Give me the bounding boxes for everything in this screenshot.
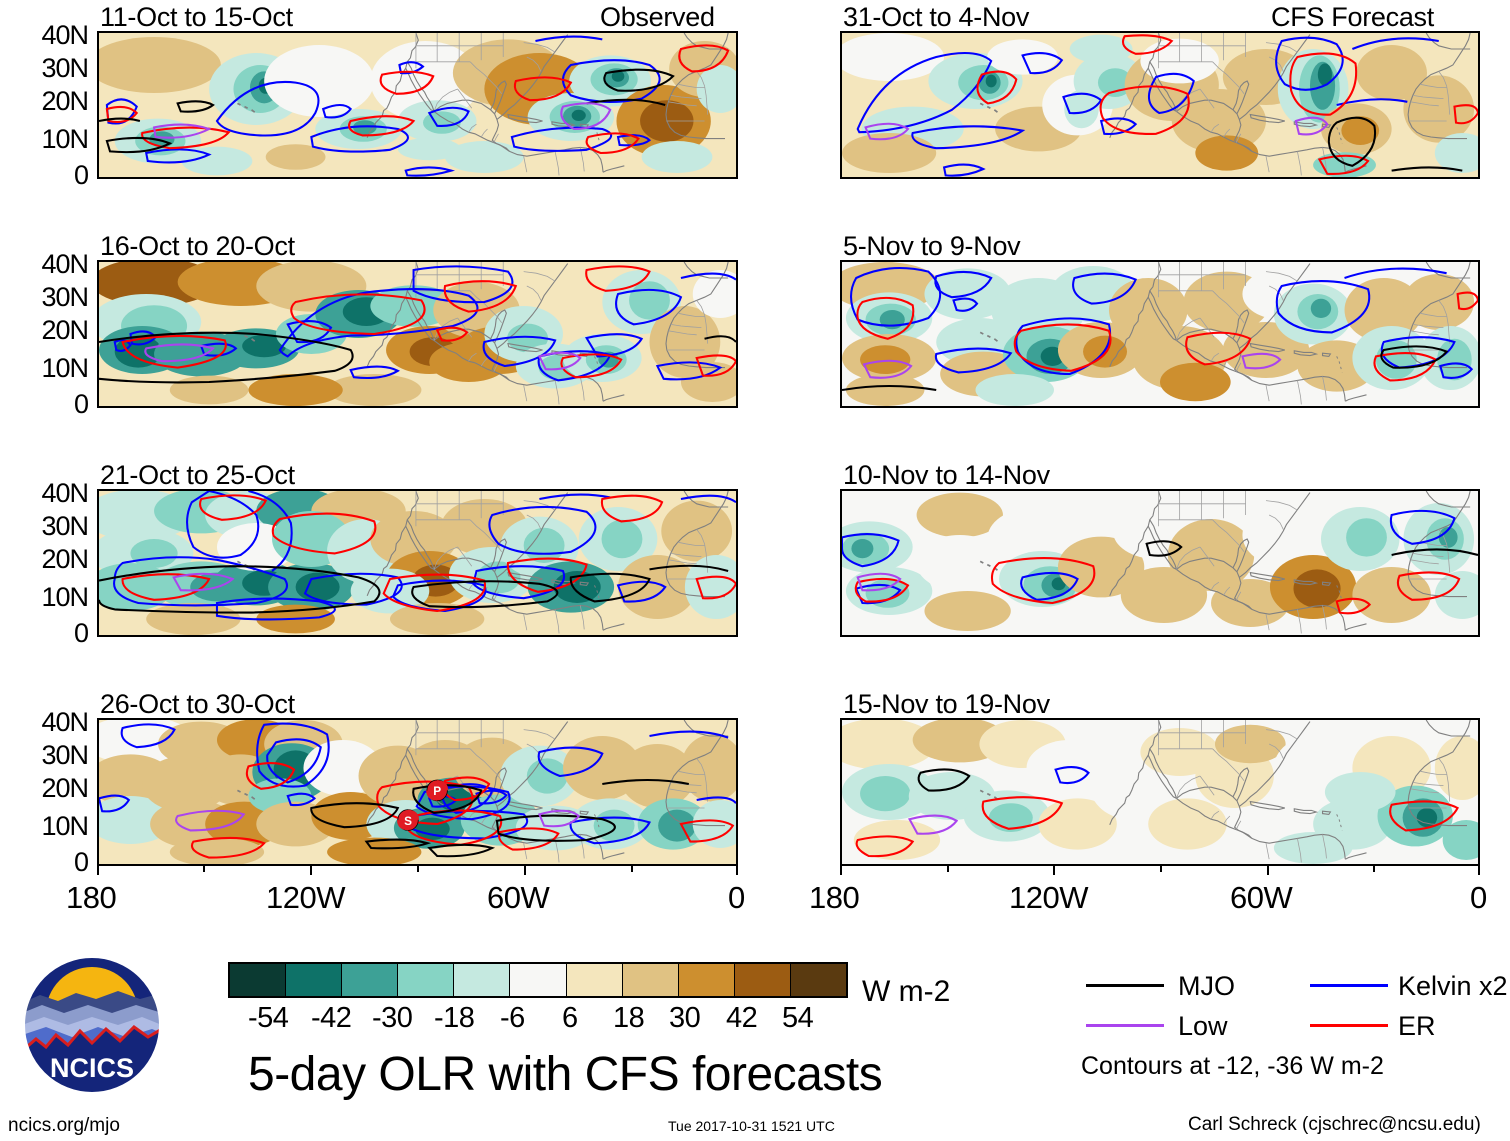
yaxis-label-20N-row4: 20N bbox=[0, 775, 88, 802]
xtick bbox=[1478, 866, 1480, 875]
colorbar-swatch-10 bbox=[791, 964, 846, 996]
xtick bbox=[1053, 866, 1055, 875]
colorbar-tick--18: -18 bbox=[434, 1002, 474, 1035]
xtick bbox=[417, 866, 419, 872]
panel-title-observed-1: 11-Oct to 15-Oct bbox=[100, 4, 293, 31]
yaxis-label-10N-row3: 10N bbox=[0, 584, 88, 611]
xtick bbox=[97, 866, 99, 875]
xaxis-label-60W-right: 60W bbox=[1230, 882, 1292, 913]
legend-label-er: ER bbox=[1398, 1011, 1436, 1042]
figure-main-title: 5-day OLR with CFS forecasts bbox=[248, 1047, 882, 1102]
xaxis-label-0-right: 0 bbox=[1470, 882, 1487, 913]
column-header-observed: Observed bbox=[600, 4, 715, 31]
map-panel-forecast-2 bbox=[840, 260, 1480, 408]
yaxis-label-30N-row4: 30N bbox=[0, 742, 88, 769]
colorbar-swatch-5 bbox=[510, 964, 566, 996]
xaxis-label-120W-left: 120W bbox=[266, 882, 345, 913]
yaxis-label-0-row4: 0 bbox=[0, 849, 88, 876]
yaxis-label-20N-row2: 20N bbox=[0, 317, 88, 344]
panel-title-observed-2: 16-Oct to 20-Oct bbox=[100, 233, 295, 260]
yaxis-label-30N-row2: 30N bbox=[0, 284, 88, 311]
footer-author-contact: Carl Schreck (cjschrec@ncsu.edu) bbox=[1188, 1114, 1481, 1136]
yaxis-label-40N-row1: 40N bbox=[0, 22, 88, 49]
xtick bbox=[1373, 866, 1375, 872]
yaxis-label-0-row3: 0 bbox=[0, 620, 88, 647]
logo-text: NCICS bbox=[50, 1053, 134, 1083]
yaxis-label-10N-row2: 10N bbox=[0, 355, 88, 382]
xaxis-label-120W-right: 120W bbox=[1009, 882, 1088, 913]
panel-title-forecast-1: 31-Oct to 4-Nov bbox=[843, 4, 1029, 31]
xtick bbox=[524, 866, 526, 875]
colorbar-tick-6: 6 bbox=[562, 1002, 578, 1035]
colorbar-swatch-9 bbox=[735, 964, 791, 996]
ncics-logo: NCICS bbox=[22, 955, 162, 1095]
colorbar-tick--30: -30 bbox=[372, 1002, 412, 1035]
footer-site-url[interactable]: ncics.org/mjo bbox=[8, 1115, 120, 1137]
yaxis-label-30N-row3: 30N bbox=[0, 513, 88, 540]
colorbar bbox=[228, 962, 848, 998]
colorbar-swatch-8 bbox=[679, 964, 735, 996]
yaxis-label-0-row1: 0 bbox=[0, 162, 88, 189]
panel-title-observed-4: 26-Oct to 30-Oct bbox=[100, 691, 295, 718]
map-panel-forecast-4 bbox=[840, 718, 1480, 866]
panel-title-forecast-3: 10-Nov to 14-Nov bbox=[843, 462, 1050, 489]
footer-timestamp: Tue 2017-10-31 1521 UTC bbox=[668, 1118, 835, 1134]
colorbar-tick--6: -6 bbox=[500, 1002, 525, 1035]
yaxis-label-40N-row2: 40N bbox=[0, 251, 88, 278]
panel-title-forecast-2: 5-Nov to 9-Nov bbox=[843, 233, 1020, 260]
yaxis-label-10N-row1: 10N bbox=[0, 126, 88, 153]
xtick bbox=[736, 866, 738, 875]
xtick bbox=[310, 866, 312, 875]
yaxis-label-20N-row3: 20N bbox=[0, 546, 88, 573]
legend-label-low: Low bbox=[1178, 1011, 1228, 1042]
colorbar-swatch-1 bbox=[286, 964, 342, 996]
colorbar-swatch-7 bbox=[623, 964, 679, 996]
xtick bbox=[1160, 866, 1162, 872]
map-panel-observed-3 bbox=[97, 489, 738, 637]
legend-line-kelvin bbox=[1310, 984, 1388, 987]
svg-text:S: S bbox=[404, 814, 412, 828]
olr-cfs-forecast-figure: 40N 30N 20N 10N 0 40N 30N 20N 10N 0 40N … bbox=[0, 0, 1510, 1141]
colorbar-swatch-2 bbox=[342, 964, 398, 996]
legend-label-kelvin: Kelvin x2 bbox=[1398, 971, 1508, 1002]
colorbar-tick--42: -42 bbox=[311, 1002, 351, 1035]
xtick bbox=[203, 866, 205, 872]
xtick bbox=[631, 866, 633, 872]
colorbar-swatch-0 bbox=[230, 964, 286, 996]
contour-levels-note: Contours at -12, -36 W m-2 bbox=[1081, 1052, 1384, 1081]
yaxis-label-10N-row4: 10N bbox=[0, 813, 88, 840]
map-panel-observed-4: P S bbox=[97, 718, 738, 866]
yaxis-label-20N-row1: 20N bbox=[0, 88, 88, 115]
colorbar-tick-30: 30 bbox=[669, 1002, 700, 1035]
xtick bbox=[840, 866, 842, 875]
map-panel-forecast-1 bbox=[840, 31, 1480, 179]
yaxis-label-40N-row4: 40N bbox=[0, 709, 88, 736]
svg-text:P: P bbox=[433, 784, 441, 798]
yaxis-label-30N-row1: 30N bbox=[0, 55, 88, 82]
legend-line-er bbox=[1310, 1024, 1388, 1027]
colorbar-swatch-3 bbox=[398, 964, 454, 996]
yaxis-label-40N-row3: 40N bbox=[0, 480, 88, 507]
yaxis-label-0-row2: 0 bbox=[0, 391, 88, 418]
xtick bbox=[947, 866, 949, 872]
xaxis-label-180-right: 180 bbox=[809, 882, 859, 913]
xtick bbox=[1267, 866, 1269, 875]
legend-line-mjo bbox=[1086, 984, 1164, 987]
panel-title-forecast-4: 15-Nov to 19-Nov bbox=[843, 691, 1050, 718]
colorbar-tick-54: 54 bbox=[782, 1002, 813, 1035]
storm-marker-p: P bbox=[426, 780, 448, 801]
xaxis-label-60W-left: 60W bbox=[487, 882, 549, 913]
colorbar-tick--54: -54 bbox=[248, 1002, 288, 1035]
legend-line-low bbox=[1086, 1024, 1164, 1027]
map-panel-forecast-3 bbox=[840, 489, 1480, 637]
panel-title-observed-3: 21-Oct to 25-Oct bbox=[100, 462, 295, 489]
xaxis-label-180-left: 180 bbox=[66, 882, 116, 913]
column-header-cfs-forecast: CFS Forecast bbox=[1271, 4, 1434, 31]
map-panel-observed-1 bbox=[97, 31, 738, 179]
colorbar-tick-18: 18 bbox=[613, 1002, 644, 1035]
colorbar-tick-42: 42 bbox=[726, 1002, 757, 1035]
legend-label-mjo: MJO bbox=[1178, 971, 1235, 1002]
storm-marker-s: S bbox=[397, 810, 419, 831]
map-panel-observed-2 bbox=[97, 260, 738, 408]
colorbar-swatch-4 bbox=[454, 964, 510, 996]
colorbar-units-label: W m-2 bbox=[862, 975, 950, 1009]
colorbar-swatch-6 bbox=[567, 964, 623, 996]
xaxis-label-0-left: 0 bbox=[728, 882, 745, 913]
